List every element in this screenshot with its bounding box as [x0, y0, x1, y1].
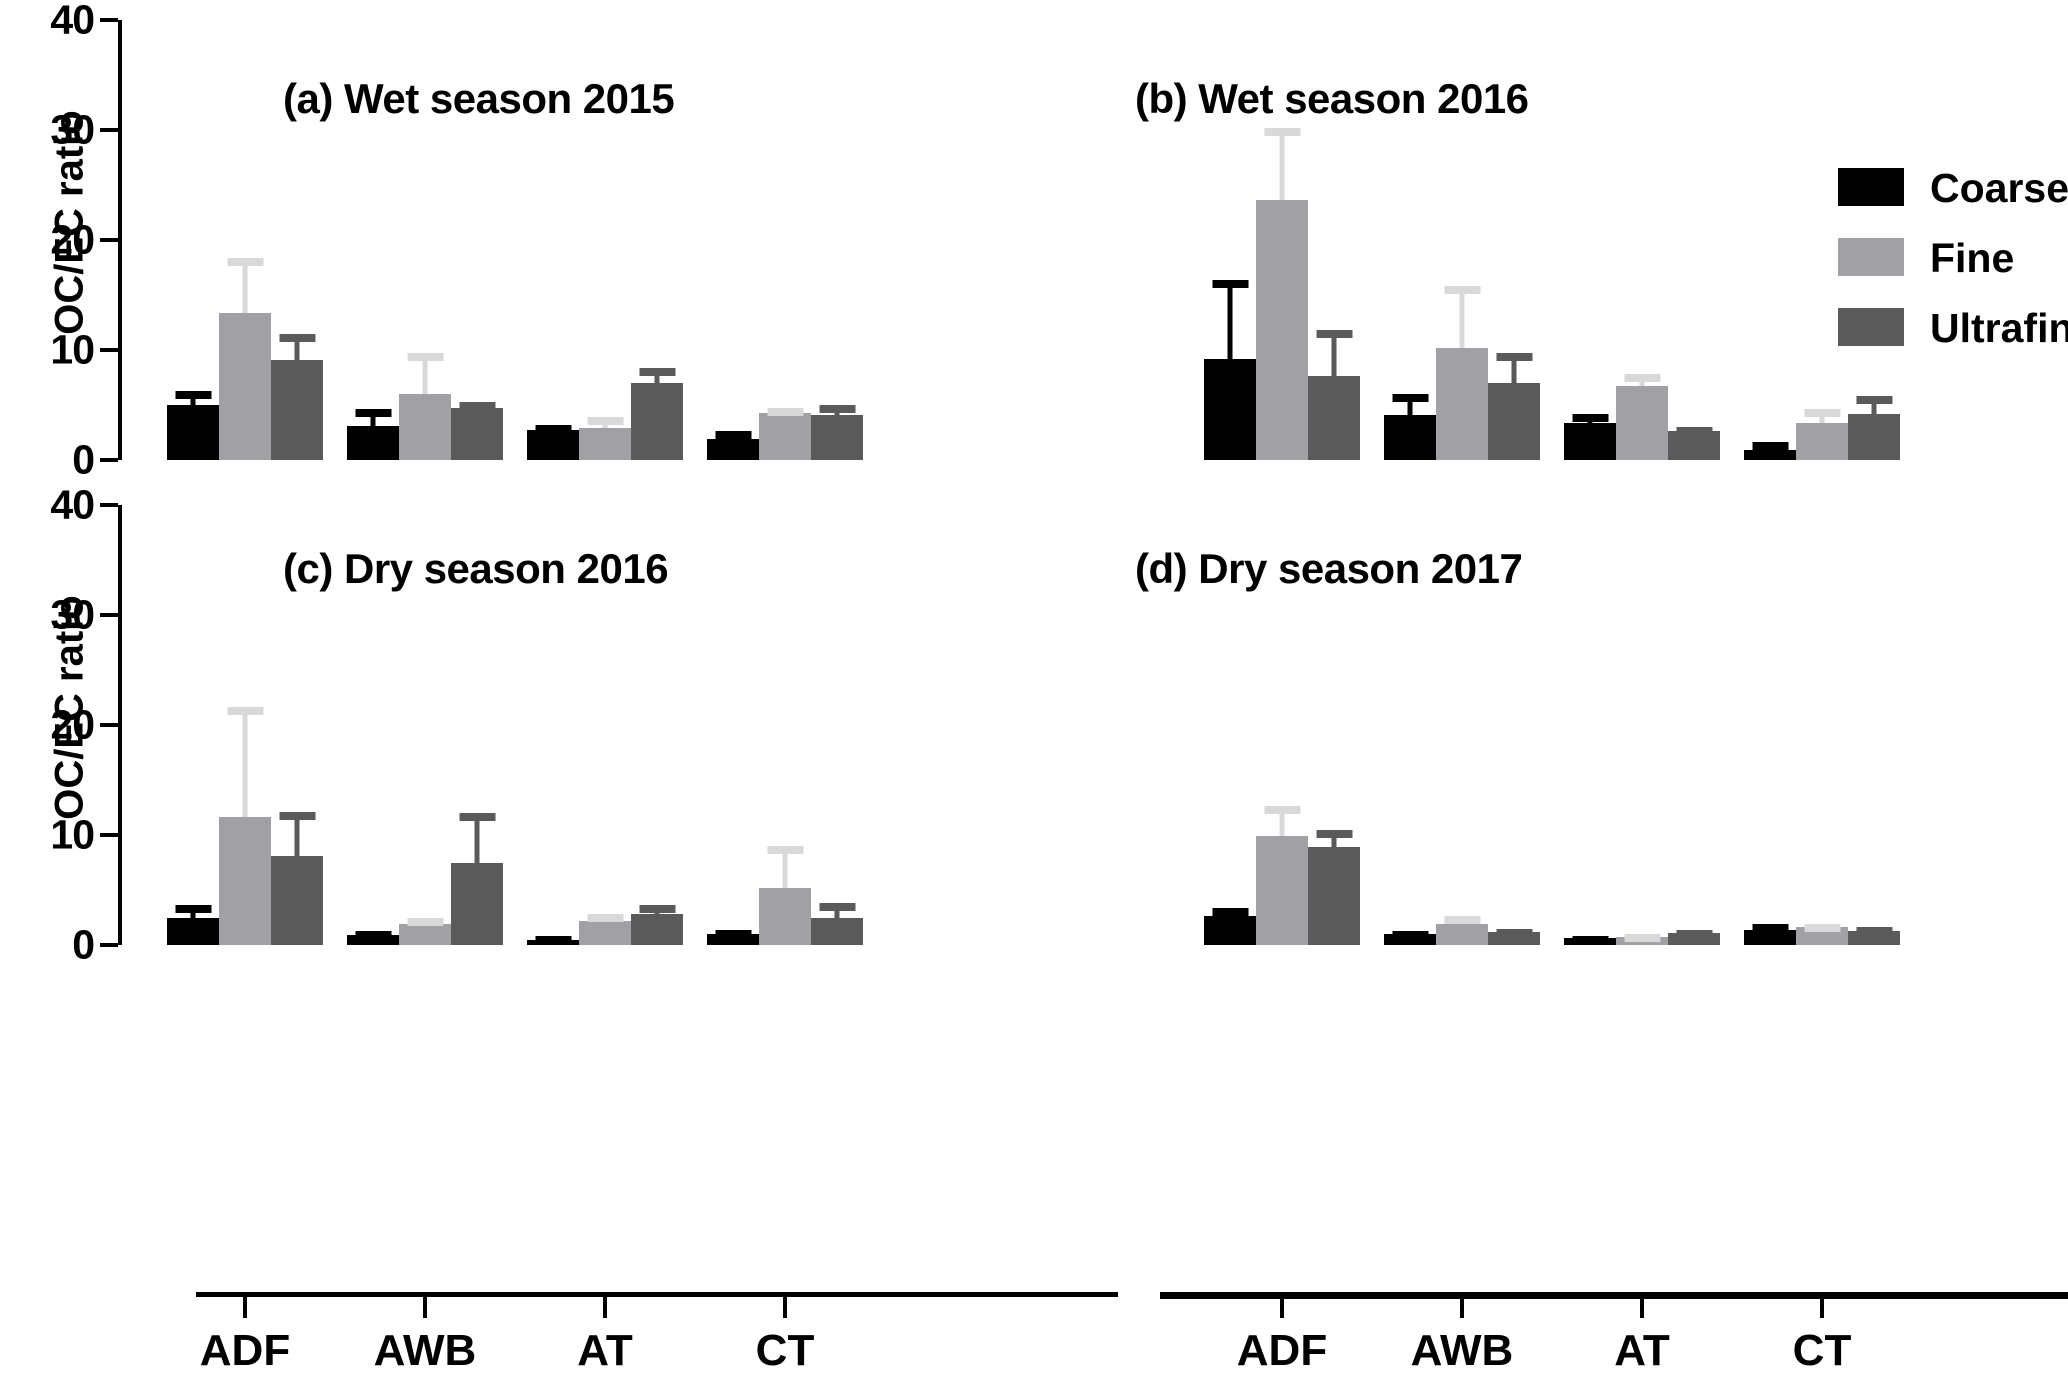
y-tick-mark — [100, 18, 118, 22]
error-bar — [731, 431, 736, 439]
bar-group — [167, 505, 323, 945]
bar-ultrafine[interactable] — [1668, 505, 1720, 945]
error-bar-cap — [1444, 916, 1480, 924]
bar-rect — [1668, 431, 1720, 460]
bar-coarse[interactable] — [527, 20, 579, 460]
error-bar-cap — [1624, 374, 1660, 382]
error-bar — [1332, 330, 1337, 376]
bar-fine[interactable] — [759, 505, 811, 945]
bar-group — [527, 505, 683, 945]
error-bar — [1640, 934, 1645, 937]
panel-d-dry-season-2017: (d) Dry season 2017 — [1155, 505, 1915, 945]
y-tick-mark — [100, 833, 118, 837]
bar-rect — [1796, 423, 1848, 460]
bar-group — [347, 505, 503, 945]
y-tick-label: 30 — [50, 595, 94, 636]
plot-area-c — [122, 505, 878, 945]
bar-rect — [579, 921, 631, 945]
error-bar — [191, 391, 196, 405]
error-bar — [191, 905, 196, 917]
error-bar-cap — [819, 405, 855, 413]
error-bar-cap — [1496, 929, 1532, 937]
error-bar-cap — [1496, 353, 1532, 361]
y-tick-label: 30 — [50, 110, 94, 151]
bar-ultrafine[interactable] — [1848, 505, 1900, 945]
bar-rect — [167, 918, 219, 946]
bar-rect — [167, 405, 219, 460]
error-bar-cap — [819, 903, 855, 911]
y-tick-label: 20 — [50, 705, 94, 746]
x-tick-mark — [603, 1292, 607, 1318]
bar-fine[interactable] — [1796, 505, 1848, 945]
x-tick-mark — [1640, 1292, 1644, 1318]
error-bar — [475, 813, 480, 863]
x-tick-label-adf: ADF — [200, 1326, 290, 1376]
bar-ultrafine[interactable] — [631, 505, 683, 945]
error-bar — [423, 353, 428, 394]
error-bar — [551, 936, 556, 939]
bar-coarse[interactable] — [527, 505, 579, 945]
error-bar-cap — [1316, 830, 1352, 838]
bar-rect — [631, 383, 683, 460]
error-bar-cap — [1264, 806, 1300, 814]
error-bar — [1512, 929, 1517, 932]
bar-coarse[interactable] — [707, 20, 759, 460]
error-bar-cap — [1572, 414, 1608, 422]
error-bar — [1768, 442, 1773, 450]
error-bar-cap — [407, 918, 443, 926]
bar-rect — [1256, 200, 1308, 460]
bar-rect — [1488, 383, 1540, 460]
error-bar — [371, 931, 376, 935]
y-tick-label: 40 — [50, 0, 94, 41]
error-bar — [243, 707, 248, 817]
error-bar-cap — [1212, 280, 1248, 288]
error-bar — [1460, 286, 1465, 348]
bar-coarse[interactable] — [167, 505, 219, 945]
bar-ultrafine[interactable] — [451, 20, 503, 460]
bar-rect — [399, 924, 451, 945]
bar-ultrafine[interactable] — [631, 20, 683, 460]
error-bar-cap — [639, 368, 675, 376]
error-bar-cap — [355, 409, 391, 417]
error-bar — [1228, 280, 1233, 359]
bar-rect — [1436, 924, 1488, 945]
error-bar-cap — [1572, 936, 1608, 944]
y-tick-label: 20 — [50, 220, 94, 261]
y-tick-label: 40 — [50, 485, 94, 526]
error-bar — [1280, 806, 1285, 836]
bar-rect — [811, 415, 863, 460]
y-tick-mark — [100, 238, 118, 242]
error-bar — [1872, 396, 1877, 414]
legend-swatch-coarse — [1838, 168, 1904, 206]
error-bar-cap — [535, 936, 571, 944]
error-bar-cap — [355, 931, 391, 939]
error-bar-cap — [535, 425, 571, 433]
bar-rect — [527, 430, 579, 460]
error-bar-cap — [1444, 286, 1480, 294]
panel-b-wet-season-2016: (b) Wet season 2016 — [1155, 20, 1915, 460]
bar-group — [1744, 505, 1900, 945]
error-bar-cap — [1676, 930, 1712, 938]
x-tick-label-at: AT — [1614, 1326, 1669, 1376]
bar-rect — [759, 413, 811, 460]
bar-rect — [399, 394, 451, 460]
bar-coarse[interactable] — [167, 20, 219, 460]
error-bar-cap — [175, 391, 211, 399]
y-tick-mark — [100, 943, 118, 947]
bar-ultrafine[interactable] — [811, 20, 863, 460]
error-bar — [1640, 374, 1645, 386]
error-bar-cap — [767, 408, 803, 416]
bar-ultrafine[interactable] — [271, 20, 323, 460]
error-bar — [655, 368, 660, 383]
x-tick-label-awb: AWB — [374, 1326, 477, 1376]
bar-ultrafine[interactable] — [451, 505, 503, 945]
bar-group — [1564, 20, 1720, 460]
error-bar — [835, 405, 840, 415]
error-bar — [1588, 414, 1593, 423]
bar-ultrafine[interactable] — [271, 505, 323, 945]
x-tick-mark — [1280, 1292, 1284, 1318]
x-tick-mark — [423, 1292, 427, 1318]
error-bar-cap — [459, 402, 495, 410]
error-bar-cap — [227, 707, 263, 715]
bar-coarse[interactable] — [1564, 20, 1616, 460]
error-bar — [603, 417, 608, 428]
x-tick-label-awb: AWB — [1411, 1326, 1514, 1376]
error-bar — [783, 408, 788, 412]
error-bar-cap — [639, 905, 675, 913]
error-bar — [1820, 924, 1825, 927]
error-bar — [243, 258, 248, 313]
x-axis-left: ADFAWBATCT — [196, 1292, 1118, 1297]
figure-root: OC/EC ratio (a) Wet season 2015 01020304… — [0, 0, 2068, 1373]
error-bar-cap — [767, 846, 803, 854]
error-bar — [1872, 927, 1877, 930]
bar-fine[interactable] — [579, 20, 631, 460]
x-axis-right: ADFAWBATCT — [1160, 1292, 2068, 1299]
error-bar-cap — [407, 353, 443, 361]
legend-swatch-ultrafine — [1838, 308, 1904, 346]
plot-area-a — [122, 20, 878, 460]
bar-ultrafine[interactable] — [811, 505, 863, 945]
error-bar — [1460, 916, 1465, 924]
panel-b-title: (b) Wet season 2016 — [1135, 75, 1529, 123]
bar-rect — [707, 439, 759, 460]
bar-rect — [1308, 376, 1360, 460]
error-bar — [655, 905, 660, 914]
error-bar-cap — [1676, 427, 1712, 435]
error-bar — [1332, 830, 1337, 848]
error-bar-cap — [1856, 396, 1892, 404]
error-bar-cap — [1624, 934, 1660, 942]
bar-coarse[interactable] — [347, 20, 399, 460]
y-tick-mark — [100, 458, 118, 462]
bar-rect — [271, 856, 323, 945]
error-bar — [295, 334, 300, 360]
error-bar-cap — [1212, 908, 1248, 916]
y-tick-mark — [100, 348, 118, 352]
error-bar-cap — [1804, 924, 1840, 932]
error-bar — [1692, 427, 1697, 431]
x-tick-label-ct: CT — [1793, 1326, 1852, 1376]
x-tick-mark — [783, 1292, 787, 1318]
error-bar-cap — [1264, 128, 1300, 136]
error-bar — [295, 812, 300, 856]
error-bar — [371, 409, 376, 426]
error-bar — [1768, 924, 1773, 930]
error-bar-cap — [1392, 394, 1428, 402]
bar-fine[interactable] — [399, 20, 451, 460]
error-bar — [1228, 908, 1233, 917]
bar-rect — [579, 428, 631, 460]
bar-group — [527, 20, 683, 460]
bar-coarse[interactable] — [707, 505, 759, 945]
bar-rect — [1436, 348, 1488, 460]
bar-fine[interactable] — [759, 20, 811, 460]
bar-rect — [811, 918, 863, 946]
error-bar-cap — [715, 431, 751, 439]
error-bar — [1588, 936, 1593, 938]
y-tick-mark — [100, 503, 118, 507]
bar-rect — [451, 408, 503, 460]
panel-a-wet-season-2015: OC/EC ratio (a) Wet season 2015 01020304… — [118, 20, 878, 460]
y-tick-label: 0 — [72, 925, 94, 966]
legend-label: Coarse — [1930, 162, 2068, 214]
error-bar-cap — [587, 914, 623, 922]
bar-rect — [759, 888, 811, 945]
error-bar-cap — [1804, 409, 1840, 417]
error-bar-cap — [175, 905, 211, 913]
error-bar-cap — [227, 258, 263, 266]
bar-rect — [271, 360, 323, 460]
panel-d-title: (d) Dry season 2017 — [1135, 545, 1522, 593]
x-tick-mark — [243, 1292, 247, 1318]
legend-label: Fine — [1930, 232, 2014, 284]
bar-group — [707, 505, 863, 945]
error-bar-cap — [1392, 931, 1428, 939]
error-bar-cap — [587, 417, 623, 425]
error-bar — [551, 425, 556, 431]
bar-coarse[interactable] — [1564, 505, 1616, 945]
error-bar — [603, 914, 608, 921]
bar-rect — [219, 313, 271, 460]
x-tick-mark — [1820, 1292, 1824, 1318]
error-bar — [1408, 394, 1413, 415]
bar-fine[interactable] — [579, 505, 631, 945]
bar-rect — [1616, 386, 1668, 460]
error-bar-cap — [715, 930, 751, 938]
legend-label: Ultrafine — [1930, 302, 2068, 354]
error-bar-cap — [1316, 330, 1352, 338]
bar-coarse[interactable] — [1744, 20, 1796, 460]
bar-coarse[interactable] — [1744, 505, 1796, 945]
bar-fine[interactable] — [219, 505, 271, 945]
bar-rect — [1564, 423, 1616, 460]
bar-rect — [1744, 450, 1796, 460]
x-tick-mark — [1460, 1292, 1464, 1318]
y-tick-mark — [100, 723, 118, 727]
bar-fine[interactable] — [1616, 505, 1668, 945]
error-bar-cap — [1856, 927, 1892, 935]
error-bar — [835, 903, 840, 917]
error-bar — [1692, 930, 1697, 933]
bar-rect — [1384, 415, 1436, 460]
x-tick-label-ct: CT — [756, 1326, 815, 1376]
bar-rect — [631, 914, 683, 945]
error-bar — [423, 918, 428, 925]
bar-ultrafine[interactable] — [1668, 20, 1720, 460]
y-tick-label: 10 — [50, 330, 94, 371]
bar-rect — [219, 817, 271, 945]
error-bar-cap — [459, 813, 495, 821]
error-bar-cap — [279, 334, 315, 342]
y-tick-label: 0 — [72, 440, 94, 481]
error-bar-cap — [1752, 924, 1788, 932]
bar-group — [347, 20, 503, 460]
error-bar — [475, 402, 480, 409]
error-bar-cap — [279, 812, 315, 820]
bar-fine[interactable] — [1616, 20, 1668, 460]
bar-group — [1564, 505, 1720, 945]
y-tick-mark — [100, 128, 118, 132]
bar-coarse[interactable] — [347, 505, 399, 945]
bar-rect — [1848, 414, 1900, 460]
bar-group — [167, 20, 323, 460]
bar-fine[interactable] — [399, 505, 451, 945]
bar-rect — [451, 863, 503, 946]
panel-c-dry-season-2016: OC/EC ratio (c) Dry season 2016 01020304… — [118, 505, 878, 945]
error-bar — [783, 846, 788, 888]
y-tick-label: 10 — [50, 815, 94, 856]
y-tick-mark — [100, 613, 118, 617]
bar-fine[interactable] — [219, 20, 271, 460]
error-bar-cap — [1752, 442, 1788, 450]
bar-group — [707, 20, 863, 460]
error-bar — [731, 930, 736, 934]
x-tick-label-adf: ADF — [1237, 1326, 1327, 1376]
bar-rect — [1204, 916, 1256, 945]
legend-swatch-fine — [1838, 238, 1904, 276]
bar-rect — [1204, 359, 1256, 460]
bar-rect — [1256, 836, 1308, 945]
error-bar — [1280, 128, 1285, 201]
error-bar — [1408, 931, 1413, 934]
bar-rect — [1308, 847, 1360, 945]
bar-rect — [347, 426, 399, 460]
error-bar — [1820, 409, 1825, 422]
error-bar — [1512, 353, 1517, 383]
x-tick-label-at: AT — [577, 1326, 632, 1376]
